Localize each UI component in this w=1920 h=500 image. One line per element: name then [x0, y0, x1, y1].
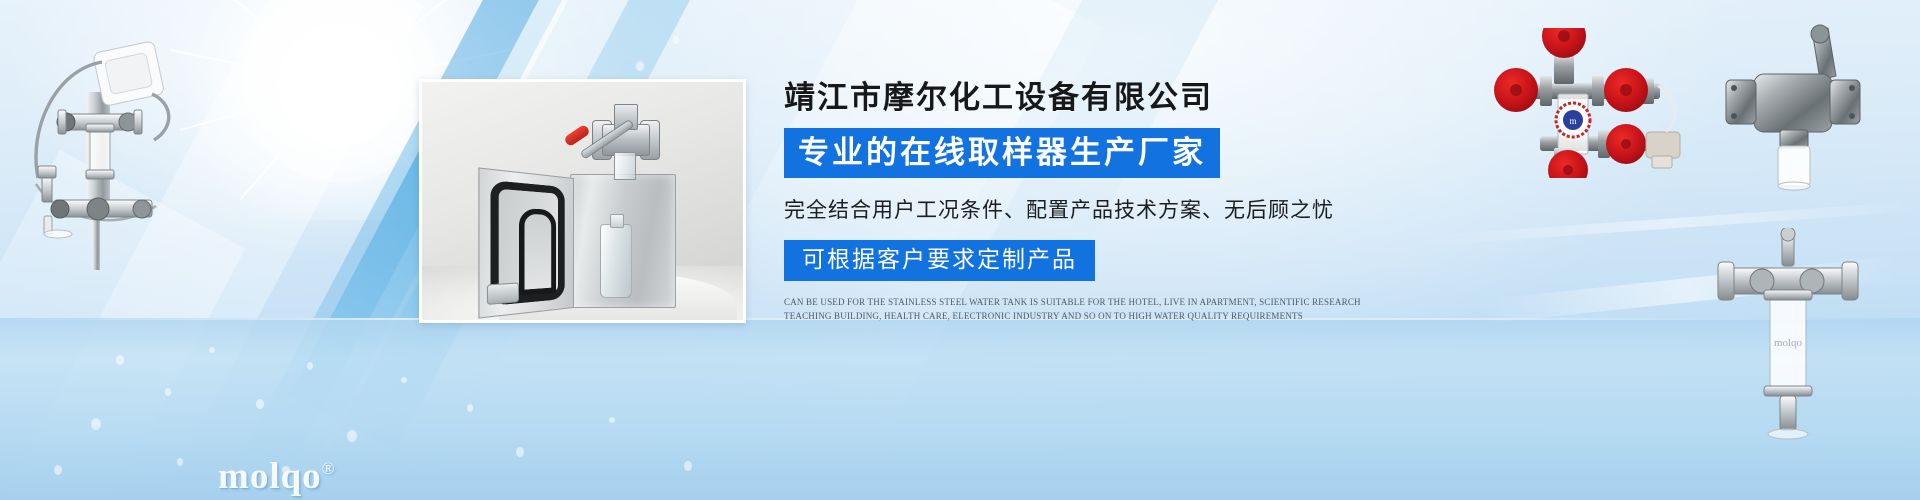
photo-valve-sight-glass — [614, 152, 636, 180]
right-bottom-valve-image: molqo — [1700, 228, 1890, 476]
promo-banner: 靖江市摩尔化工设备有限公司 专业的在线取样器生产厂家 完全结合用户工况条件、配置… — [0, 0, 1920, 500]
right-top-valve-image — [1700, 22, 1900, 192]
four-way-valve-icon: m — [1480, 28, 1702, 178]
photo-valve-assembly — [578, 104, 670, 180]
registered-mark: ® — [322, 459, 336, 478]
right-cross-valve-image: m — [1480, 28, 1702, 178]
svg-text:m: m — [1569, 116, 1576, 126]
photo-content — [422, 82, 743, 320]
sampler-on-stand-icon — [2, 18, 192, 270]
photo-door-latch — [487, 282, 519, 305]
left-product-image — [2, 18, 192, 270]
inline-sight-valve-icon: molqo — [1700, 228, 1890, 476]
company-name: 靖江市摩尔化工设备有限公司 — [784, 82, 1404, 115]
custom-tag-row: 可根据客户要求定制产品 — [784, 240, 1404, 281]
svg-text:molqo: molqo — [1774, 337, 1803, 349]
headline-highlight: 专业的在线取样器生产厂家 — [784, 128, 1220, 178]
photo-door-window — [519, 208, 556, 296]
photo-cabinet-door — [478, 167, 574, 318]
banner-text-block: 靖江市摩尔化工设备有限公司 专业的在线取样器生产厂家 完全结合用户工况条件、配置… — [784, 82, 1404, 324]
photo-sample-bottle — [600, 224, 632, 298]
watermark-text: molqo — [218, 456, 322, 497]
english-description: CAN BE USED FOR THE STAINLESS STEEL WATE… — [784, 295, 1384, 325]
headline-row: 专业的在线取样器生产厂家 — [784, 128, 1404, 178]
custom-order-tag: 可根据客户要求定制产品 — [784, 240, 1095, 281]
lever-valve-icon — [1700, 22, 1900, 192]
watermark-logo: molqo® — [218, 455, 336, 498]
center-product-photo — [419, 79, 746, 323]
photo-valve-red-grip — [563, 124, 591, 148]
subline: 完全结合用户工况条件、配置产品技术方案、无后顾之忧 — [784, 194, 1404, 224]
